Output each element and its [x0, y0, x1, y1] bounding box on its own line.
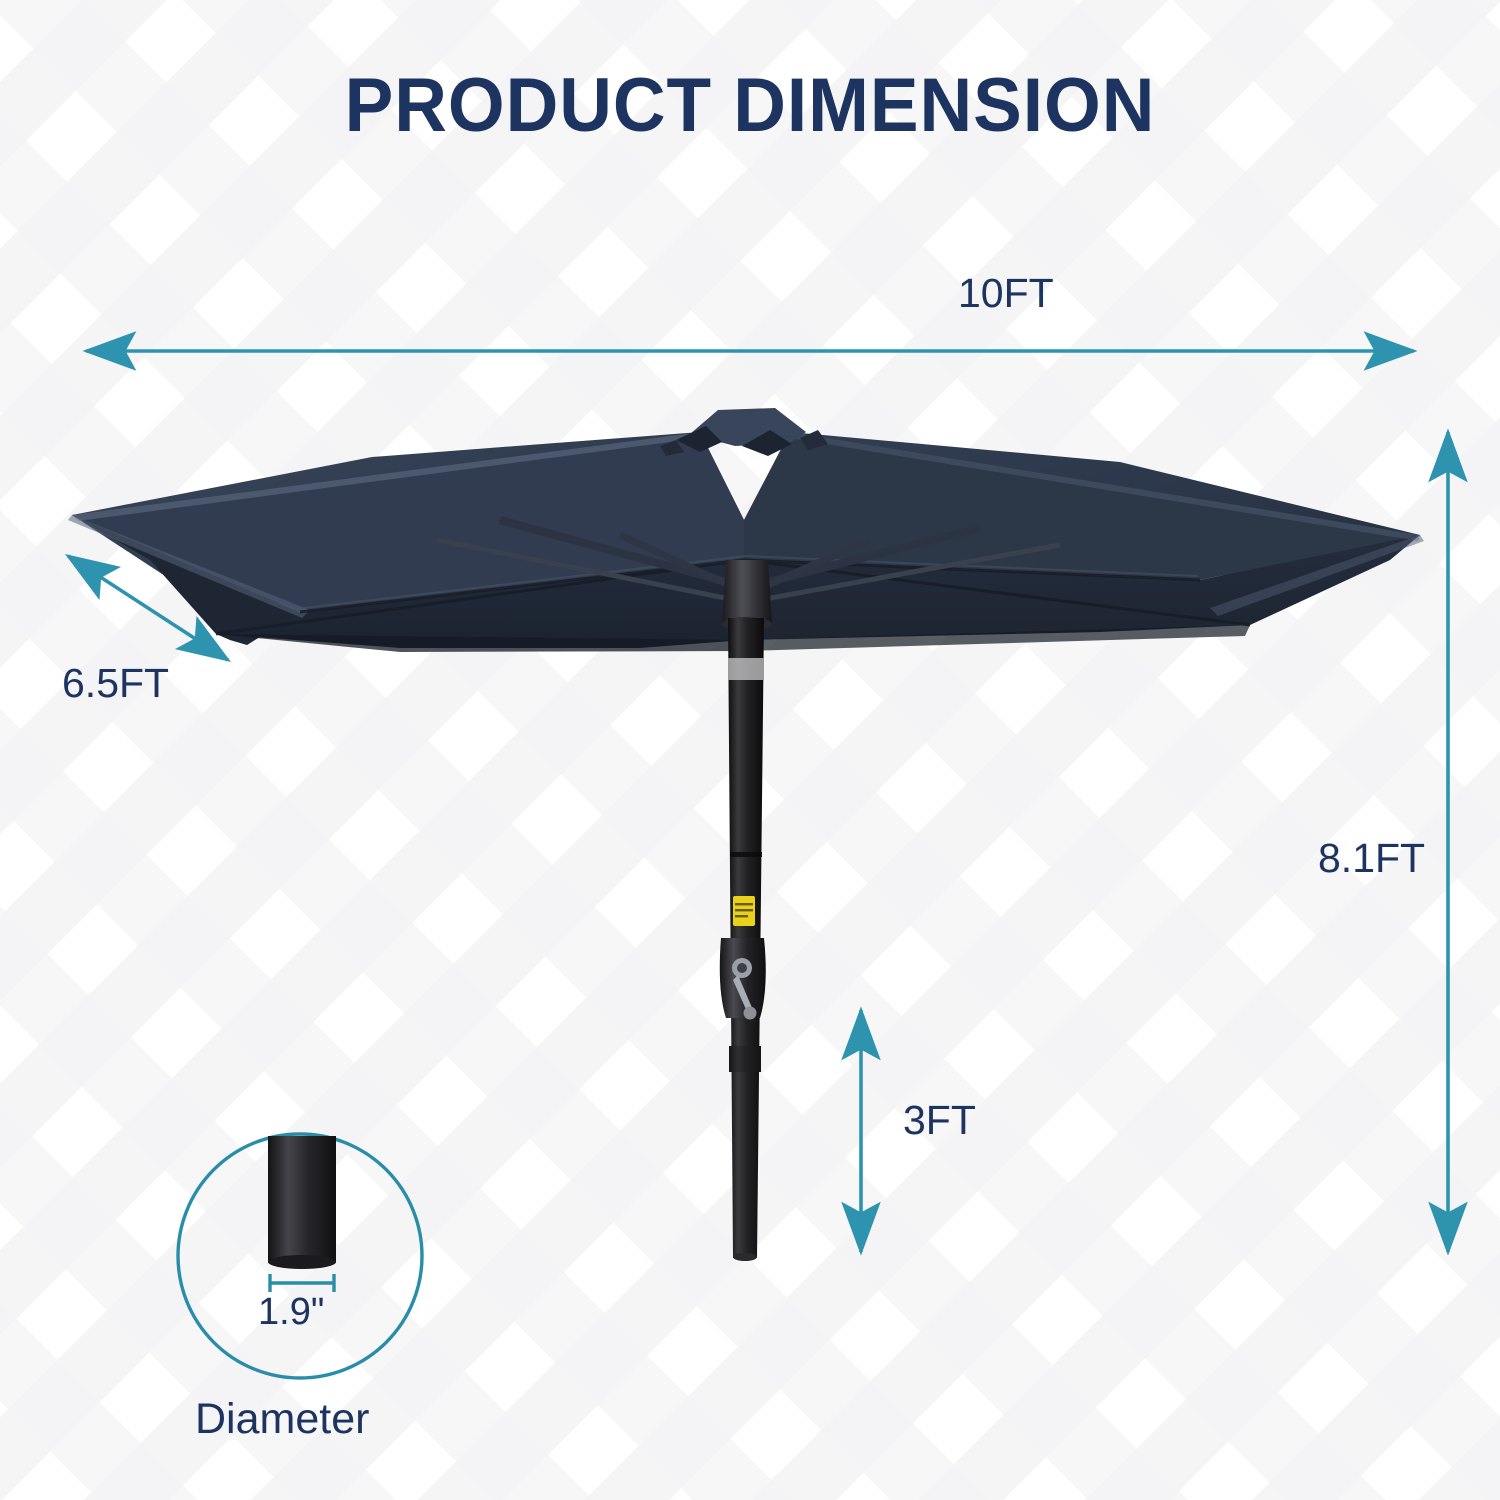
pole-collar-lower-shading — [729, 1046, 761, 1072]
warning-label-line-1 — [735, 903, 753, 905]
diameter-callout — [178, 1134, 422, 1378]
crank-handle-grip — [744, 1007, 757, 1020]
callout-pole-bottom — [268, 1255, 336, 1269]
diameter-caption: Diameter — [195, 1395, 369, 1444]
umbrella-pole — [720, 618, 766, 1261]
dimension-label-depth: 6.5FT — [62, 660, 169, 707]
umbrella-canopy — [68, 408, 1424, 652]
crank-hub-center — [737, 963, 747, 973]
pole-seam — [730, 852, 762, 857]
dimension-label-pole-diameter: 1.9" — [258, 1291, 324, 1334]
product-dimension-infographic: PRODUCT DIMENSION — [0, 0, 1500, 1500]
pole-bottom-cap — [733, 1253, 757, 1261]
dimension-label-clearance: 3FT — [903, 1097, 976, 1144]
umbrella-diagram — [0, 0, 1500, 1500]
crank-housing — [720, 938, 766, 1018]
pole-collar-upper-shading — [728, 658, 764, 680]
dimension-label-width: 10FT — [958, 270, 1054, 317]
warning-label-line-3 — [735, 915, 748, 917]
canopy-hub — [722, 560, 772, 624]
dimension-label-height: 8.1FT — [1318, 835, 1425, 882]
callout-pole-segment — [268, 1136, 336, 1262]
warning-label-line-2 — [735, 909, 753, 911]
